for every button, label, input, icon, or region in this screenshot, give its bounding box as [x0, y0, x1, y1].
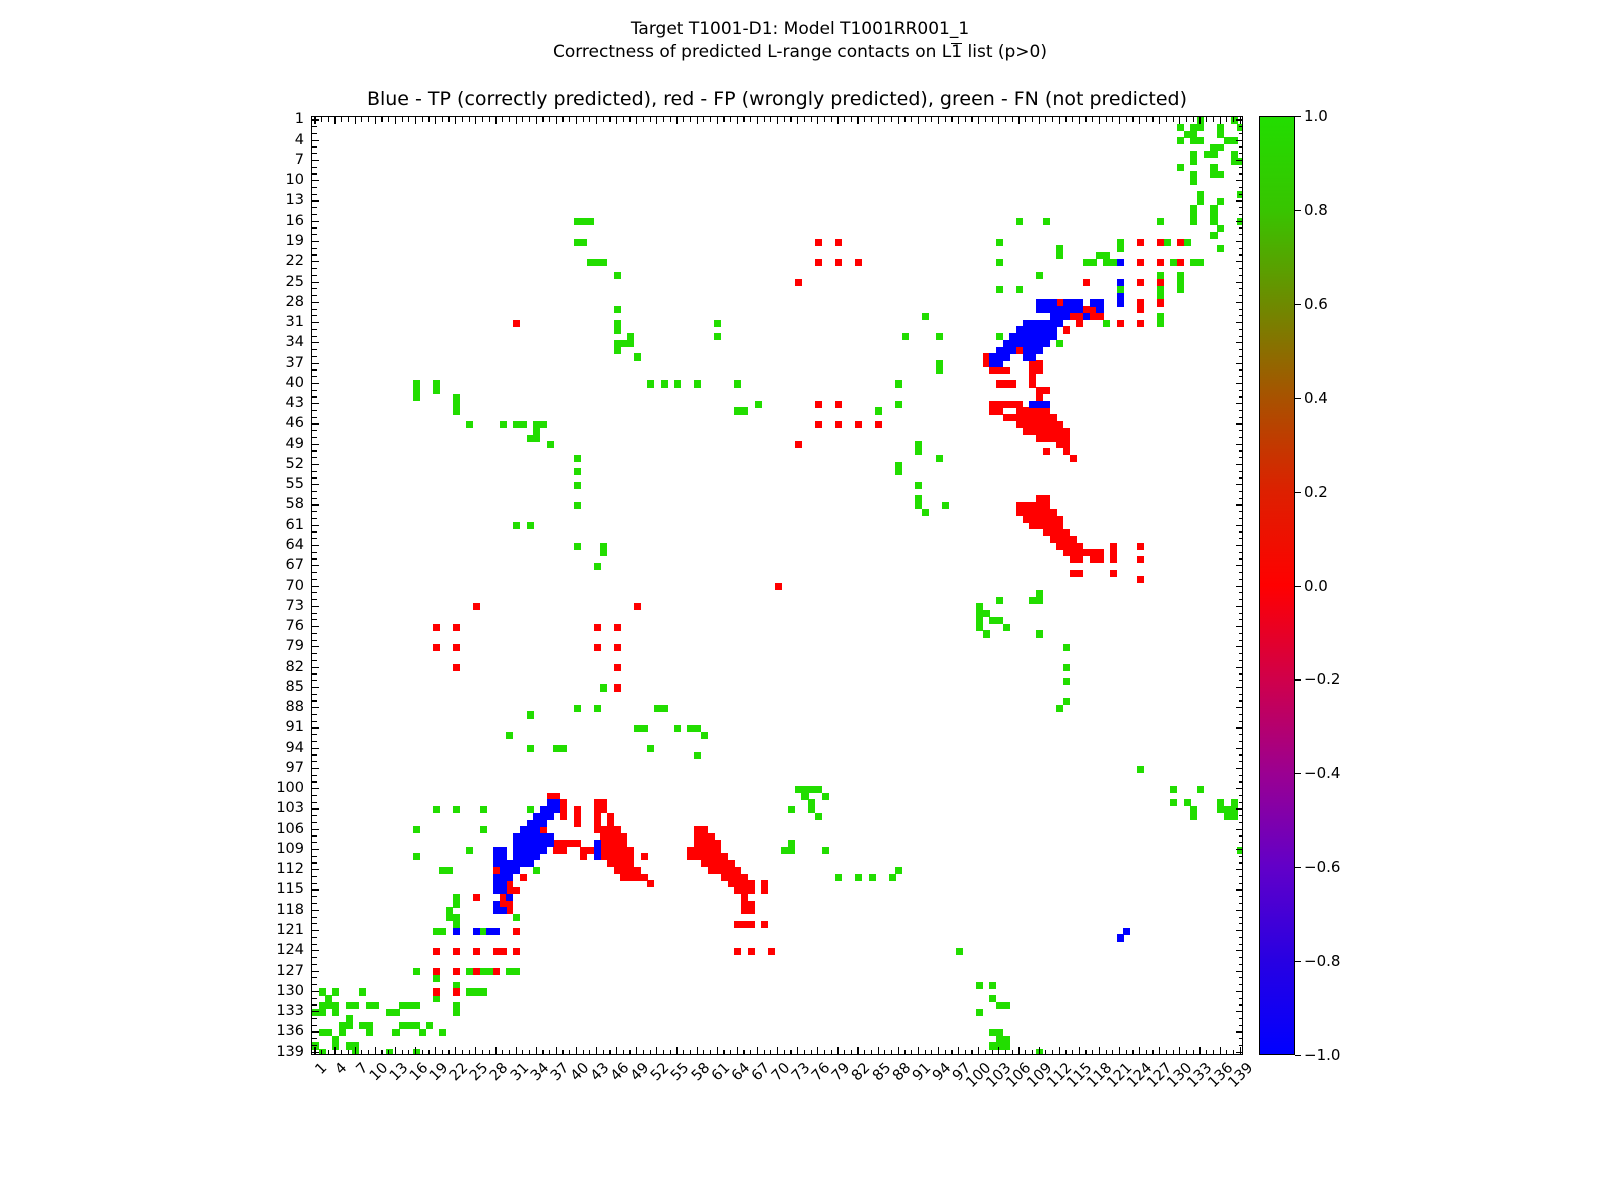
y-axis-minor-tick: [312, 227, 317, 228]
x-axis-minor-tick: [723, 117, 724, 122]
y-axis-major-tick: [1236, 667, 1243, 668]
contact-cell-fn: [614, 347, 621, 354]
x-axis-minor-tick: [951, 117, 952, 122]
colorbar-tick: [1295, 586, 1301, 587]
y-axis-minor-tick: [312, 795, 317, 796]
contact-cell-tp: [540, 847, 547, 854]
x-axis-minor-tick: [629, 1050, 630, 1055]
y-axis-tick-label: 52: [286, 456, 304, 472]
x-axis-minor-tick: [408, 117, 409, 122]
y-axis-minor-tick: [1239, 450, 1244, 451]
contact-cell-fn: [433, 975, 440, 982]
x-axis-minor-tick: [482, 117, 483, 122]
y-axis-minor-tick: [312, 437, 317, 438]
x-axis-major-tick: [576, 1047, 577, 1054]
y-axis-minor-tick: [312, 1038, 317, 1039]
y-axis-minor-tick: [312, 680, 317, 681]
y-axis-minor-tick: [1239, 998, 1244, 999]
x-axis-minor-tick: [448, 1050, 449, 1055]
contact-cell-fn: [366, 1022, 373, 1029]
contact-cell-fn: [976, 1009, 983, 1016]
x-axis-major-tick: [697, 1047, 698, 1054]
x-axis-minor-tick: [804, 1050, 805, 1055]
y-axis-tick-label: 73: [286, 598, 304, 614]
y-axis-minor-tick: [1239, 133, 1244, 134]
x-axis-minor-tick: [1005, 117, 1006, 122]
x-axis-minor-tick: [710, 117, 711, 122]
y-axis-minor-tick: [312, 498, 317, 499]
x-axis-minor-tick: [804, 117, 805, 122]
contact-cell-fp: [574, 840, 581, 847]
y-axis-major-tick: [1236, 1052, 1243, 1053]
x-axis-minor-tick: [1085, 1050, 1086, 1055]
contact-cell-fp: [594, 624, 601, 631]
contact-cell-fn: [1036, 630, 1043, 637]
x-axis-minor-tick: [790, 1050, 791, 1055]
x-axis-minor-tick: [469, 117, 470, 122]
contact-cell-fn: [694, 380, 701, 387]
x-axis-major-tick: [455, 117, 456, 124]
x-axis-minor-tick: [368, 117, 369, 122]
contact-cell-fn: [902, 333, 909, 340]
contact-cell-fn: [674, 725, 681, 732]
y-axis-minor-tick: [312, 288, 317, 289]
x-axis-minor-tick: [824, 117, 825, 122]
y-axis-tick-label: 40: [286, 375, 304, 391]
contact-cell-fn: [1063, 664, 1070, 671]
y-axis-minor-tick: [1239, 862, 1244, 863]
contact-cell-fp: [1063, 326, 1070, 333]
y-axis-minor-tick: [1239, 430, 1244, 431]
y-axis-minor-tick: [312, 518, 317, 519]
x-axis-minor-tick: [1005, 1050, 1006, 1055]
contact-cell-fn: [600, 549, 607, 556]
y-axis-minor-tick: [1239, 640, 1244, 641]
x-axis-minor-tick: [609, 117, 610, 122]
y-axis-minor-tick: [312, 721, 317, 722]
y-axis-minor-tick: [312, 694, 317, 695]
y-axis-minor-tick: [1239, 153, 1244, 154]
x-axis-minor-tick: [562, 1050, 563, 1055]
y-axis-tick-label: 34: [286, 334, 304, 350]
y-axis-major-tick: [312, 727, 319, 728]
x-axis-major-tick: [777, 117, 778, 124]
y-axis-major-tick: [1236, 504, 1243, 505]
y-axis-major-tick: [1236, 241, 1243, 242]
x-axis-minor-tick: [1112, 117, 1113, 122]
contact-cell-fn: [895, 867, 902, 874]
contact-cell-fp: [875, 421, 882, 428]
y-axis-minor-tick: [1239, 741, 1244, 742]
y-axis-minor-tick: [312, 356, 317, 357]
x-axis-major-tick: [536, 1047, 537, 1054]
x-axis-minor-tick: [911, 117, 912, 122]
contact-cell-fp: [641, 853, 648, 860]
x-axis-minor-tick: [811, 1050, 812, 1055]
y-axis-major-tick: [312, 971, 319, 972]
contact-cell-fp: [734, 948, 741, 955]
y-axis-minor-tick: [1239, 694, 1244, 695]
y-axis-minor-tick: [1239, 1038, 1244, 1039]
contact-cell-fp: [614, 684, 621, 691]
y-axis-minor-tick: [312, 146, 317, 147]
y-axis-tick-label: 37: [286, 355, 304, 371]
y-axis-major-tick: [1236, 707, 1243, 708]
x-axis-major-tick: [576, 117, 577, 124]
y-axis-tick-label: 31: [286, 314, 304, 330]
y-axis-minor-tick: [312, 410, 317, 411]
contact-cell-fn: [366, 1029, 373, 1036]
y-axis-major-tick: [312, 586, 319, 587]
contact-cell-fn: [574, 705, 581, 712]
contact-cell-tp: [533, 853, 540, 860]
x-axis-minor-tick: [422, 1050, 423, 1055]
contact-cell-fn: [1197, 259, 1204, 266]
y-axis-major-tick: [1236, 991, 1243, 992]
contact-cell-fn: [540, 421, 547, 428]
x-axis-minor-tick: [1146, 1050, 1147, 1055]
x-axis-minor-tick: [361, 117, 362, 122]
y-axis-minor-tick: [312, 309, 317, 310]
y-axis-minor-tick: [1239, 835, 1244, 836]
colorbar-tick-label: 0.8: [1304, 201, 1328, 219]
contact-cell-fn: [1063, 698, 1070, 705]
contact-cell-fn: [1036, 272, 1043, 279]
y-axis-major-tick: [312, 322, 319, 323]
y-axis-minor-tick: [1239, 417, 1244, 418]
y-axis-minor-tick: [1239, 356, 1244, 357]
y-axis-minor-tick: [1239, 944, 1244, 945]
x-axis-minor-tick: [1166, 117, 1167, 122]
x-axis-minor-tick: [549, 1050, 550, 1055]
x-axis-minor-tick: [851, 1050, 852, 1055]
x-axis-major-tick: [355, 117, 356, 124]
y-axis-minor-tick: [312, 450, 317, 451]
contact-cell-fp: [453, 644, 460, 651]
y-axis-major-tick: [312, 363, 319, 364]
x-axis-minor-tick: [683, 117, 684, 122]
x-axis-minor-tick: [1112, 1050, 1113, 1055]
y-axis-minor-tick: [312, 173, 317, 174]
y-axis-minor-tick: [312, 862, 317, 863]
contact-cell-tp: [1117, 934, 1124, 941]
y-axis-minor-tick: [312, 856, 317, 857]
x-axis-major-tick: [1179, 117, 1180, 124]
y-axis-tick-labels: 1471013161922252831343740434649525558616…: [240, 116, 304, 1055]
y-axis-minor-tick: [312, 396, 317, 397]
contact-cell-fn: [1170, 786, 1177, 793]
y-axis-tick-label: 13: [286, 192, 304, 208]
contact-cell-fp: [473, 968, 480, 975]
contact-cell-fn: [1056, 705, 1063, 712]
y-axis-minor-tick: [312, 417, 317, 418]
y-axis-minor-tick: [1239, 457, 1244, 458]
contact-cell-fp: [1137, 543, 1144, 550]
y-axis-minor-tick: [1239, 268, 1244, 269]
contact-cell-fn: [835, 874, 842, 881]
contact-cell-fp: [1029, 380, 1036, 387]
contact-cell-fp: [1009, 380, 1016, 387]
contact-cell-fn: [701, 732, 708, 739]
colorbar-tick: [1295, 961, 1301, 962]
contact-cell-fp: [775, 583, 782, 590]
x-axis-minor-tick: [971, 1050, 972, 1055]
x-axis-minor-tick: [690, 1050, 691, 1055]
x-axis-minor-tick: [428, 1050, 429, 1055]
contact-cell-fn: [453, 407, 460, 414]
contact-cell-fn: [332, 1002, 339, 1009]
x-axis-minor-tick: [1213, 117, 1214, 122]
y-axis-minor-tick: [1239, 369, 1244, 370]
contact-cell-fp: [453, 968, 460, 975]
x-axis-minor-tick: [442, 1050, 443, 1055]
y-axis-major-tick: [312, 180, 319, 181]
y-axis-minor-tick: [312, 126, 317, 127]
contact-cell-tp: [506, 894, 513, 901]
x-axis-minor-tick: [770, 117, 771, 122]
colorbar-tick: [1295, 773, 1301, 774]
contact-cell-tp: [1043, 340, 1050, 347]
contact-cell-fn: [1056, 340, 1063, 347]
contact-cell-tp: [1029, 353, 1036, 360]
x-axis-minor-tick: [750, 1050, 751, 1055]
contact-cell-tp: [1076, 306, 1083, 313]
y-axis-minor-tick: [312, 248, 317, 249]
x-axis-minor-tick: [1012, 1050, 1013, 1055]
y-axis-minor-tick: [312, 660, 317, 661]
x-axis-minor-tick: [770, 1050, 771, 1055]
x-axis-minor-tick: [1065, 1050, 1066, 1055]
x-axis-major-tick: [737, 117, 738, 124]
contact-cell-fn: [1043, 218, 1050, 225]
colorbar-tick-label: −1.0: [1304, 1046, 1340, 1064]
x-axis-minor-tick: [469, 1050, 470, 1055]
x-axis-minor-tick: [925, 1050, 926, 1055]
x-axis-minor-tick: [1206, 117, 1207, 122]
contact-cell-fn: [1197, 198, 1204, 205]
y-axis-major-tick: [1236, 687, 1243, 688]
x-axis-minor-tick: [428, 117, 429, 122]
x-axis-minor-tick: [388, 1050, 389, 1055]
contact-cell-fn: [1003, 624, 1010, 631]
contact-cell-fn: [513, 968, 520, 975]
x-axis-minor-tick: [589, 1050, 590, 1055]
y-axis-tick-label: 112: [276, 861, 304, 877]
contact-cell-fn: [453, 1009, 460, 1016]
contact-cell-fn: [339, 1029, 346, 1036]
x-axis-minor-tick: [965, 117, 966, 122]
contact-cell-fn: [627, 340, 634, 347]
contact-cell-fn: [587, 218, 594, 225]
y-axis-ticks-right: [1233, 116, 1243, 1055]
contact-cell-fp: [1137, 239, 1144, 246]
contact-cell-fn: [1177, 164, 1184, 171]
contact-cell-fp: [1076, 320, 1083, 327]
contact-cell-tp: [1090, 299, 1097, 306]
contact-cell-fp: [433, 988, 440, 995]
y-axis-minor-tick: [1239, 754, 1244, 755]
y-axis-minor-tick: [1239, 700, 1244, 701]
y-axis-minor-tick: [312, 883, 317, 884]
contact-cell-fp: [835, 239, 842, 246]
x-axis-minor-tick: [348, 1050, 349, 1055]
x-axis-minor-tick: [562, 117, 563, 122]
contact-cell-fn: [392, 1029, 399, 1036]
x-axis-minor-tick: [723, 1050, 724, 1055]
x-axis-minor-tick: [1032, 1050, 1033, 1055]
x-axis-major-tick: [697, 117, 698, 124]
y-axis-minor-tick: [312, 592, 317, 593]
y-axis-minor-tick: [312, 1025, 317, 1026]
contact-cell-tp: [506, 874, 513, 881]
y-axis-minor-tick: [1239, 498, 1244, 499]
x-axis-minor-tick: [925, 117, 926, 122]
contact-cell-fn: [1210, 151, 1217, 158]
contact-cell-fn: [346, 1022, 353, 1029]
x-axis-minor-tick: [408, 1050, 409, 1055]
x-axis-minor-tick: [603, 117, 604, 122]
contact-cell-tp: [594, 847, 601, 854]
y-axis-major-tick: [312, 646, 319, 647]
x-axis-minor-tick: [1226, 117, 1227, 122]
contact-cell-fn: [989, 982, 996, 989]
y-axis-major-tick: [1236, 930, 1243, 931]
contact-cell-fp: [580, 853, 587, 860]
x-axis-minor-tick: [402, 1050, 403, 1055]
y-axis-major-tick: [312, 1052, 319, 1053]
contact-cell-fn: [1016, 286, 1023, 293]
x-axis-minor-tick: [1226, 1050, 1227, 1055]
y-axis-major-tick: [1236, 606, 1243, 607]
contact-cell-fn: [1190, 813, 1197, 820]
contact-cell-fp: [835, 259, 842, 266]
x-axis-major-tick: [415, 117, 416, 124]
y-axis-major-tick: [1236, 363, 1243, 364]
x-axis-minor-tick: [328, 1050, 329, 1055]
y-axis-minor-tick: [1239, 795, 1244, 796]
contact-cell-fp: [748, 907, 755, 914]
contact-cell-fn: [1063, 678, 1070, 685]
x-axis-minor-tick: [569, 117, 570, 122]
contact-cell-fn: [433, 387, 440, 394]
x-axis-minor-tick: [884, 1050, 885, 1055]
x-axis-major-tick: [536, 117, 537, 124]
y-axis-major-tick: [312, 403, 319, 404]
y-axis-minor-tick: [312, 295, 317, 296]
contact-cell-fp: [493, 968, 500, 975]
y-axis-minor-tick: [312, 977, 317, 978]
contact-cell-fn: [983, 630, 990, 637]
y-axis-minor-tick: [312, 822, 317, 823]
contact-cell-fp: [594, 644, 601, 651]
y-axis-minor-tick: [1239, 275, 1244, 276]
contact-cell-fp: [1096, 313, 1103, 320]
x-axis-major-tick: [1079, 1047, 1080, 1054]
x-axis-minor-tick: [784, 1050, 785, 1055]
contact-cell-fp: [795, 441, 802, 448]
x-axis-minor-tick: [864, 1050, 865, 1055]
y-axis-minor-tick: [312, 876, 317, 877]
x-axis-major-tick: [1199, 117, 1200, 124]
y-axis-tick-label: 94: [286, 740, 304, 756]
x-axis-major-tick: [878, 1047, 879, 1054]
contact-cell-fp: [614, 624, 621, 631]
x-axis-minor-tick: [1025, 117, 1026, 122]
y-axis-minor-tick: [1239, 309, 1244, 310]
y-axis-tick-label: 124: [276, 942, 304, 958]
y-axis-tick-label: 19: [286, 233, 304, 249]
y-axis-major-tick: [312, 241, 319, 242]
x-axis-major-tick: [1018, 117, 1019, 124]
y-axis-minor-tick: [1239, 917, 1244, 918]
colorbar-tick-label: 0.6: [1304, 295, 1328, 313]
x-axis-minor-tick: [951, 1050, 952, 1055]
y-axis-minor-tick: [1239, 781, 1244, 782]
contact-cell-fn: [547, 441, 554, 448]
contact-cell-fn: [1217, 171, 1224, 178]
y-axis-major-tick: [312, 119, 319, 120]
contact-cell-fn: [674, 380, 681, 387]
y-axis-minor-tick: [1239, 802, 1244, 803]
y-axis-major-tick: [312, 626, 319, 627]
y-axis-minor-tick: [1239, 396, 1244, 397]
x-axis-minor-tick: [965, 1050, 966, 1055]
contact-cell-fn: [359, 988, 366, 995]
x-axis-minor-tick: [703, 1050, 704, 1055]
contact-cell-fn: [413, 968, 420, 975]
x-axis-minor-tick: [502, 117, 503, 122]
contact-cell-fp: [513, 320, 520, 327]
x-axis-minor-tick: [1052, 117, 1053, 122]
x-axis-minor-tick: [462, 1050, 463, 1055]
contact-cell-fp: [761, 921, 768, 928]
x-axis-major-tick: [616, 117, 617, 124]
y-axis-minor-tick: [1239, 511, 1244, 512]
contact-cell-fn: [520, 421, 527, 428]
y-axis-major-tick: [312, 200, 319, 201]
y-axis-major-tick: [312, 261, 319, 262]
contact-cell-fp: [748, 921, 755, 928]
contact-cell-fn: [822, 847, 829, 854]
colorbar-ticks: [1295, 116, 1303, 1055]
contact-cell-fn: [332, 1009, 339, 1016]
colorbar-tick-label: 0.2: [1304, 483, 1328, 501]
x-axis-major-tick: [1039, 117, 1040, 124]
contact-cell-fn: [574, 502, 581, 509]
x-axis-minor-tick: [422, 117, 423, 122]
contact-cell-fn: [332, 988, 339, 995]
y-axis-major-tick: [312, 869, 319, 870]
y-axis-minor-tick: [1239, 673, 1244, 674]
x-axis-major-tick: [395, 1047, 396, 1054]
x-axis-major-tick: [978, 1047, 979, 1054]
contact-cell-fn: [580, 239, 587, 246]
contact-cell-fn: [614, 326, 621, 333]
y-axis-tick-label: 70: [286, 578, 304, 594]
contact-cell-fn: [1217, 225, 1224, 232]
contact-cell-fn: [1217, 245, 1224, 252]
x-axis-major-tick: [797, 117, 798, 124]
contact-cell-tp: [1063, 313, 1070, 320]
x-axis-minor-tick: [1106, 117, 1107, 122]
y-axis-minor-tick: [1239, 336, 1244, 337]
contact-cell-fn: [480, 988, 487, 995]
y-axis-minor-tick: [312, 1018, 317, 1019]
y-axis-major-tick: [1236, 646, 1243, 647]
x-axis-minor-tick: [542, 1050, 543, 1055]
x-axis-major-tick: [355, 1047, 356, 1054]
contact-cell-tp: [594, 853, 601, 860]
